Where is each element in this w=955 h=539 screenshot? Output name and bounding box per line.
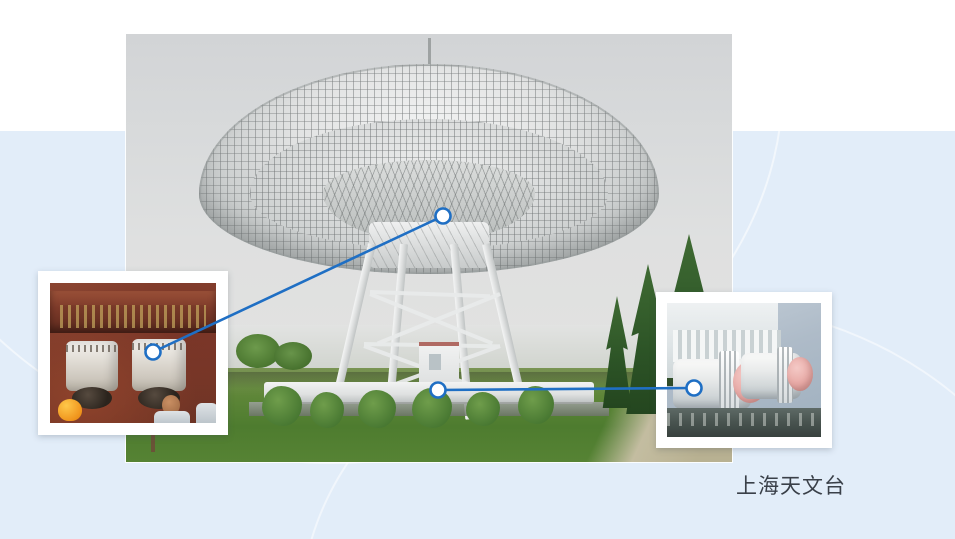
bearing-housing-left <box>66 341 118 391</box>
photo-caption: 上海天文台 <box>736 470 846 500</box>
inset-photo-right-frame <box>656 292 832 448</box>
foreground-shrub <box>358 390 396 428</box>
foreground-shrub <box>310 392 344 428</box>
pink-end-cap-rear <box>787 357 813 391</box>
worker-torso <box>154 411 190 423</box>
gear-teeth-detail <box>60 305 206 327</box>
inset-photo-left-frame <box>38 271 228 435</box>
tower-brace <box>370 290 490 298</box>
bolt-ring <box>132 343 186 350</box>
foreground-shrub <box>466 392 500 426</box>
background-tree <box>274 342 312 370</box>
elevation-hub <box>369 222 489 268</box>
foreground-shrub <box>412 388 452 428</box>
base-shed-window <box>429 354 441 370</box>
inset-photo-right-image <box>667 303 821 437</box>
track-bolt-row <box>667 413 821 426</box>
bearing-housing-right <box>132 339 186 391</box>
hard-hat-icon <box>58 399 82 421</box>
foreground-shrub <box>518 386 554 424</box>
worker-torso-second <box>196 403 216 423</box>
foreground-shrub <box>262 386 302 426</box>
slide-canvas: 上海天文台 <box>0 0 955 539</box>
bolt-ring <box>66 345 118 352</box>
background-tree <box>236 334 280 368</box>
inset-photo-left-image <box>50 283 216 423</box>
